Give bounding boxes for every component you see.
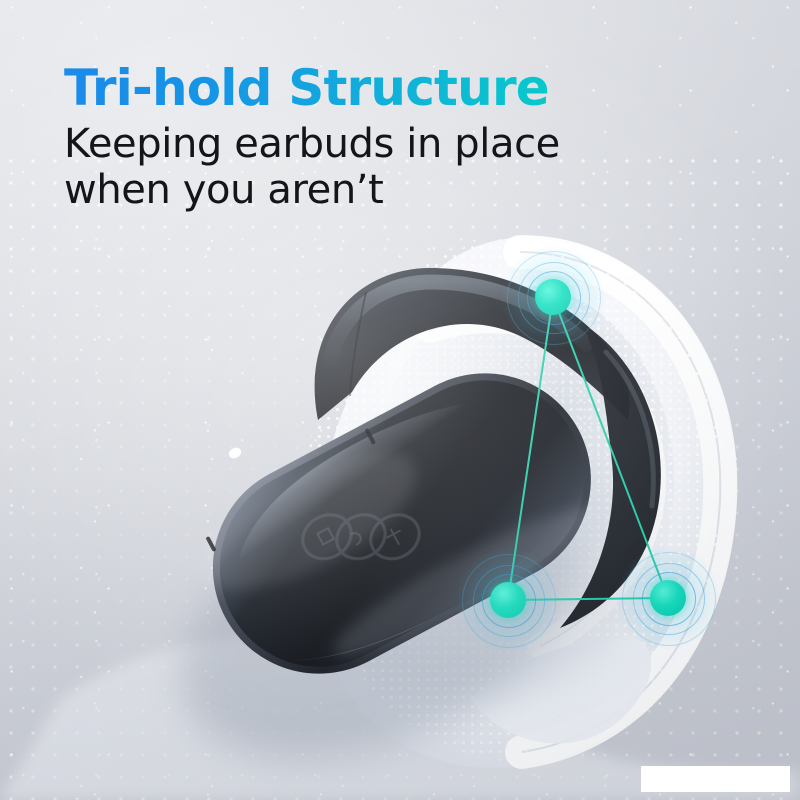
page-title: Tri-hold Structure (64, 62, 744, 115)
headline-block: Tri-hold Structure Keeping earbuds in pl… (64, 62, 744, 213)
bottom-left-hold-point-ring-3 (462, 554, 556, 648)
mic-slot-side (205, 536, 216, 552)
bottom-left-hold-point-ring-1 (482, 574, 536, 628)
led-indicator (227, 446, 243, 461)
bottom-right-hold-point-glow (616, 546, 720, 650)
earbud-body (176, 336, 630, 713)
background-dot-grid (0, 150, 800, 800)
certification-emblems (295, 478, 427, 595)
page-subtitle-line-1: Keeping earbuds in place (64, 122, 744, 168)
bottom-right-hold-point-ring-1 (642, 572, 696, 626)
earbud-product (139, 268, 661, 800)
bottom-left-hold-point-glow (456, 548, 560, 652)
mic-slot-top (364, 428, 376, 445)
ear-illustration (300, 238, 735, 768)
banner-canvas: Tri-hold Structure Keeping earbuds in pl… (0, 0, 800, 800)
bottom-right-hold-point-core (650, 580, 686, 616)
earbud-hook (315, 268, 630, 420)
tri-hold-triangle (508, 297, 668, 600)
page-subtitle: Keeping earbuds in place when you aren’t (64, 122, 744, 213)
top-hold-point-glow (501, 245, 605, 349)
top-hold-point-ring-2 (518, 262, 590, 334)
top-hold-point-ring-1 (527, 271, 581, 325)
earbud-hook-tail (560, 330, 661, 628)
top-hold-point-core (535, 279, 571, 315)
bottom-right-hold-point-ring-2 (633, 563, 705, 635)
bottom-left-hold-point-core (490, 582, 526, 618)
bottom-right-hold-point-ring-3 (622, 552, 716, 646)
bottom-left-hold-point-ring-2 (473, 565, 545, 637)
page-subtitle-line-2: when you aren’t (64, 168, 744, 214)
top-hold-point-ring-3 (507, 251, 601, 345)
bottom-right-blank-label (641, 766, 790, 792)
